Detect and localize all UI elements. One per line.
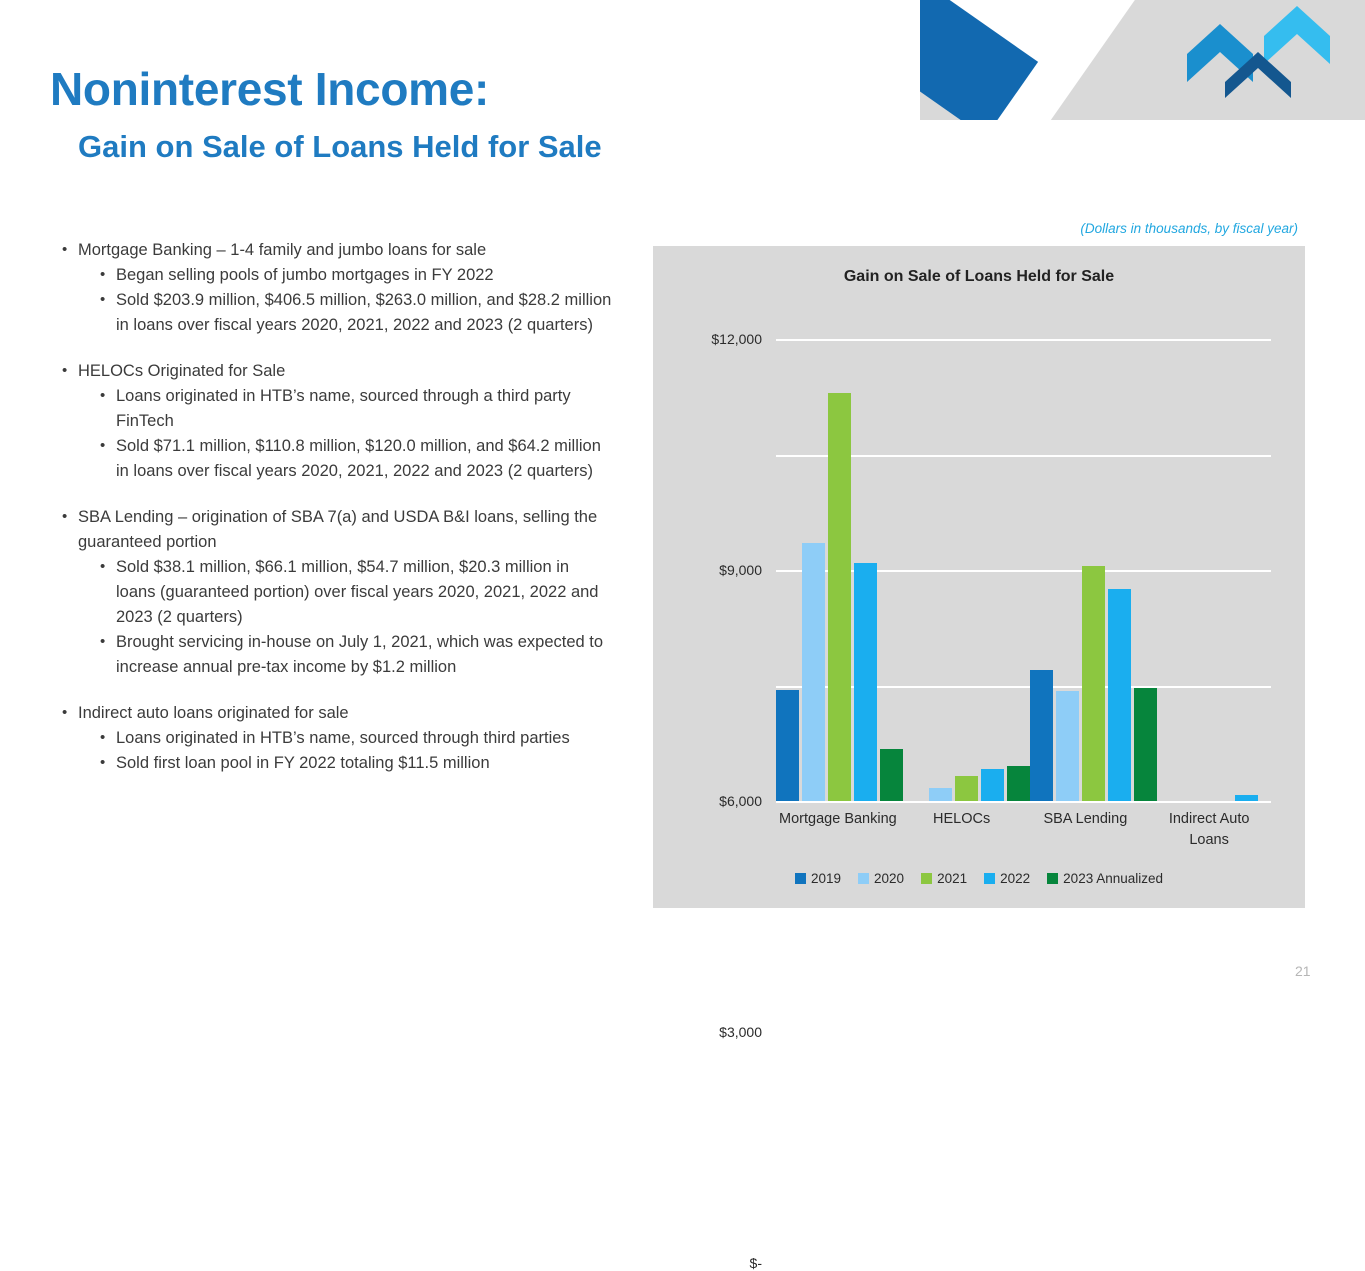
legend-item: 2021 [921,871,967,886]
chart-panel: Gain on Sale of Loans Held for Sale $-$3… [653,246,1305,908]
legend-label: 2022 [1000,871,1030,886]
legend-label: 2021 [937,871,967,886]
x-axis-category-label: Indirect Auto Loans [1147,809,1271,851]
chart-bar-group [1157,339,1284,801]
x-axis-category-label: Mortgage Banking [776,809,900,851]
gridline: $- [776,801,1271,803]
bullet-content: Mortgage Banking – 1-4 family and jumbo … [52,238,612,797]
x-axis-category-label: HELOCs [900,809,1024,851]
legend-item: 2022 [984,871,1030,886]
bullet-level1: Indirect auto loans originated for sale [52,701,612,726]
chart-bar [1082,566,1105,801]
bullet-block: SBA Lending – origination of SBA 7(a) an… [52,505,612,680]
chart-bar [929,788,952,801]
chart-bar-groups [776,339,1271,801]
y-axis-tick-label: $- [750,1255,762,1271]
x-axis-category-label: SBA Lending [1024,809,1148,851]
chart-bar [776,690,799,801]
bullet-block: Indirect auto loans originated for sale … [52,701,612,776]
legend-item: 2020 [858,871,904,886]
bullet-level1: SBA Lending – origination of SBA 7(a) an… [52,505,612,555]
chart-units-note: (Dollars in thousands, by fiscal year) [770,221,1298,236]
legend-item: 2023 Annualized [1047,871,1163,886]
bullet-level2: Loans originated in HTB’s name, sourced … [52,726,612,751]
legend-swatch [921,873,932,884]
legend-swatch [795,873,806,884]
y-axis-tick-label: $9,000 [719,562,762,578]
chart-bar [828,393,851,801]
chart-bar [802,543,825,801]
bullet-level2: Brought servicing in-house on July 1, 20… [52,630,612,680]
bullet-level2: Sold $38.1 million, $66.1 million, $54.7… [52,555,612,630]
chart-plot-area: $-$3,000$6,000$9,000$12,000 [776,339,1271,801]
bullet-block: HELOCs Originated for Sale Loans origina… [52,359,612,484]
chart-bar [880,749,903,801]
chart-bar [1235,795,1258,801]
chart-bar-group [776,339,903,801]
chart-legend: 20192020202120222023 Annualized [653,871,1305,886]
header-banner [920,0,1365,120]
page-number: 21 [1295,963,1311,979]
legend-swatch [1047,873,1058,884]
y-axis-tick-label: $3,000 [719,1024,762,1040]
chart-bar [1134,688,1157,801]
legend-swatch [984,873,995,884]
y-axis-tick-label: $12,000 [711,331,762,347]
chart-bar-group [1030,339,1157,801]
chart-x-axis-labels: Mortgage BankingHELOCsSBA LendingIndirec… [776,809,1271,851]
chart-bar [1007,766,1030,801]
bullet-level2: Sold first loan pool in FY 2022 totaling… [52,751,612,776]
chart-bar [955,776,978,801]
bullet-level2: Sold $203.9 million, $406.5 million, $26… [52,288,612,338]
y-axis-tick-label: $6,000 [719,793,762,809]
chart-bar [981,769,1004,801]
chart-bar [854,563,877,801]
page-subtitle: Gain on Sale of Loans Held for Sale [78,131,602,162]
hometown-bank-chevrons-logo [1187,6,1333,98]
bullet-level1: HELOCs Originated for Sale [52,359,612,384]
chart-bar [1056,691,1079,801]
legend-label: 2020 [874,871,904,886]
bullet-block: Mortgage Banking – 1-4 family and jumbo … [52,238,612,338]
page-title: Noninterest Income: [50,66,489,112]
bullet-level1: Mortgage Banking – 1-4 family and jumbo … [52,238,612,263]
legend-label: 2019 [811,871,841,886]
chart-title: Gain on Sale of Loans Held for Sale [653,268,1305,286]
legend-label: 2023 Annualized [1063,871,1163,886]
legend-swatch [858,873,869,884]
bullet-level2: Loans originated in HTB’s name, sourced … [52,384,612,434]
legend-item: 2019 [795,871,841,886]
chart-bar [1030,670,1053,801]
chart-bar-group [903,339,1030,801]
bullet-level2: Sold $71.1 million, $110.8 million, $120… [52,434,612,484]
bullet-level2: Began selling pools of jumbo mortgages i… [52,263,612,288]
chart-bar [1108,589,1131,801]
